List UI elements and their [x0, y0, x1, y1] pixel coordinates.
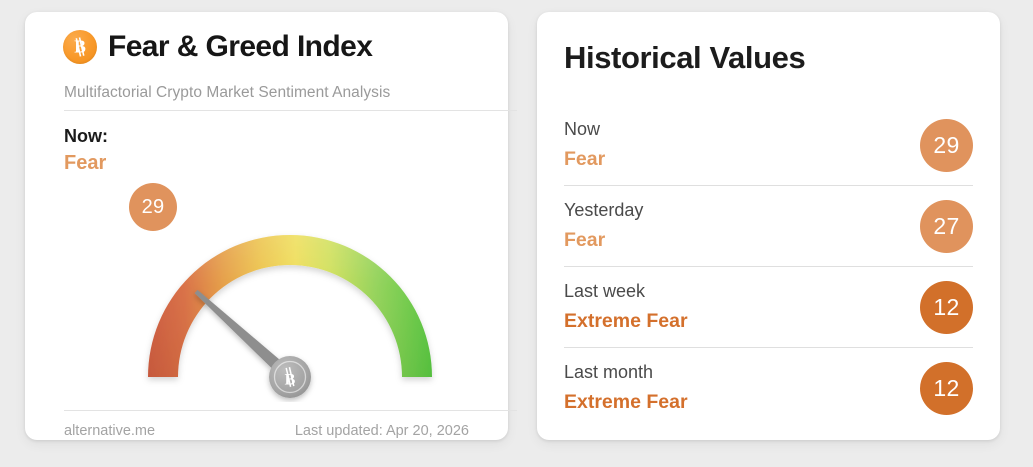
list-item[interactable]: Now Fear 29	[564, 105, 973, 186]
gauge-card-header: B Fear & Greed Index	[63, 30, 473, 64]
history-sentiment: Extreme Fear	[564, 391, 688, 414]
header-divider	[64, 110, 517, 111]
list-item[interactable]: Last month Extreme Fear 12	[564, 348, 973, 429]
bitcoin-icon: B	[63, 30, 97, 64]
footer-divider	[64, 410, 517, 411]
gauge-arc-shading	[148, 235, 432, 377]
history-value-badge: 12	[920, 281, 973, 334]
history-period: Last week	[564, 281, 645, 302]
now-label: Now:	[64, 126, 108, 147]
historical-values-card: Historical Values Now Fear 29 Yesterday …	[537, 12, 1000, 440]
history-value-badge: 29	[920, 119, 973, 172]
history-sentiment: Fear	[564, 148, 605, 171]
list-item[interactable]: Last week Extreme Fear 12	[564, 267, 973, 348]
history-period: Now	[564, 119, 600, 140]
now-sentiment-value: Fear	[64, 152, 106, 175]
history-row-list: Now Fear 29 Yesterday Fear 27 Last week …	[564, 105, 973, 429]
page-title: Fear & Greed Index	[108, 32, 372, 62]
source-link[interactable]: alternative.me	[64, 423, 155, 439]
history-title: Historical Values	[564, 40, 805, 76]
list-item[interactable]: Yesterday Fear 27	[564, 186, 973, 267]
fear-greed-gauge-card: B Fear & Greed Index Multifactorial Cryp…	[25, 12, 508, 440]
history-value-badge: 27	[920, 200, 973, 253]
history-period: Last month	[564, 362, 653, 383]
history-value-badge: 12	[920, 362, 973, 415]
history-period: Yesterday	[564, 200, 643, 221]
gauge-needle: B	[192, 287, 311, 398]
last-updated-text: Last updated: Apr 20, 2026	[295, 423, 469, 439]
page-subtitle: Multifactorial Crypto Market Sentiment A…	[64, 84, 390, 102]
fear-greed-gauge: B	[120, 172, 460, 402]
history-sentiment: Fear	[564, 229, 605, 252]
history-sentiment: Extreme Fear	[564, 310, 688, 333]
screen-root: B Fear & Greed Index Multifactorial Cryp…	[0, 0, 1033, 467]
